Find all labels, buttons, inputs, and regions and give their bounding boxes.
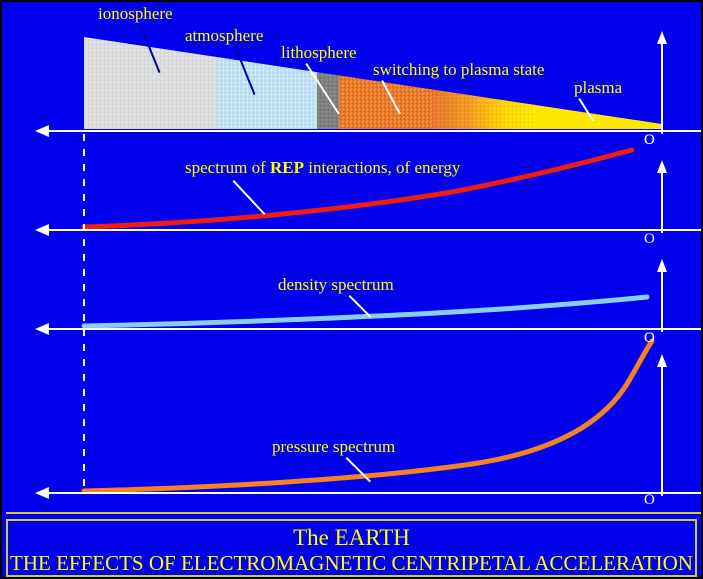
- axis-y-panel-4: [661, 357, 663, 496]
- curve-energy-spectrum: [2, 130, 703, 232]
- origin-label-panel-4: O: [644, 331, 655, 346]
- axis-y-panel-3: [661, 262, 663, 332]
- curve-pressure-spectrum: [2, 328, 703, 498]
- axis-y-arrow-panel-4: [657, 354, 667, 367]
- origin-label-panel-4-lower: O: [644, 493, 655, 508]
- label-energy-pre: spectrum of: [185, 158, 270, 177]
- axis-x-panel-4: [48, 492, 703, 494]
- label-ionosphere: ionosphere: [98, 4, 173, 23]
- axis-y-arrow-panel-3: [657, 259, 667, 272]
- origin-label-panel-2: O: [644, 133, 655, 148]
- caption-subtitle: THE EFFECTS OF ELECTROMAGNETIC CENTRIPET…: [8, 551, 695, 576]
- caption-box: The EARTH THE EFFECTS OF ELECTROMAGNETIC…: [6, 519, 697, 577]
- label-switching-to-plasma-state: switching to plasma state: [373, 60, 544, 79]
- axis-x-arrow-panel-4: [35, 487, 49, 499]
- caption-top-rule: [6, 512, 701, 514]
- label-density-spectrum: density spectrum: [278, 275, 394, 294]
- label-plasma: plasma: [574, 78, 622, 97]
- caption-title: The EARTH: [8, 524, 695, 551]
- axis-y-panel-2: [661, 163, 663, 233]
- axis-y-arrow-panel-1: [657, 31, 667, 44]
- vertical-dashed-guide: [83, 134, 85, 494]
- label-pressure-spectrum: pressure spectrum: [272, 437, 395, 456]
- label-energy-spectrum: spectrum of REP interactions, of energy: [185, 158, 460, 177]
- axis-y-arrow-panel-2: [657, 160, 667, 173]
- axis-y-panel-1: [661, 34, 663, 134]
- label-lithosphere: lithosphere: [281, 43, 357, 62]
- figure-canvas: ionosphere atmosphere lithosphere switch…: [0, 0, 703, 579]
- label-energy-rep: REP: [270, 158, 304, 177]
- label-energy-post: interactions, of energy: [304, 158, 460, 177]
- label-atmosphere: atmosphere: [185, 26, 263, 45]
